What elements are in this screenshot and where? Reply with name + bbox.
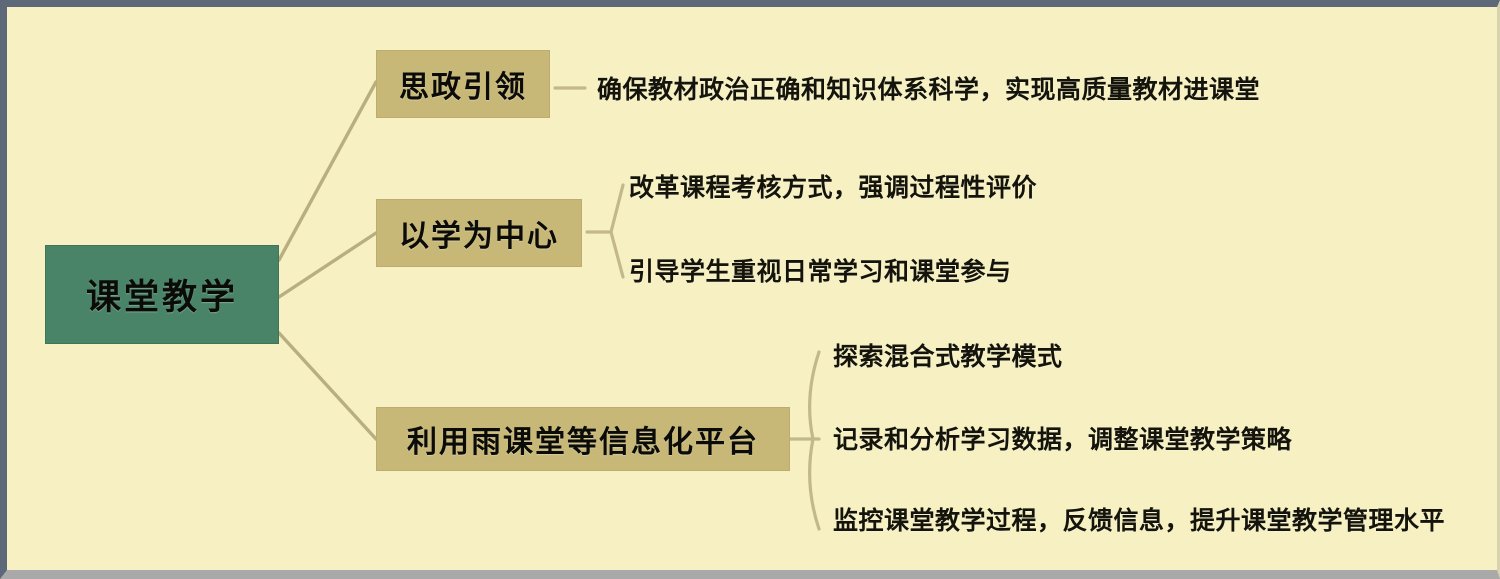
edge-branch-2-to-leaf-1 bbox=[611, 185, 623, 232]
leaf-item-branch3-2[interactable]: 记录和分析学习数据，调整课堂教学策略 bbox=[833, 427, 1292, 452]
branch-node-label: 以学为中心 bbox=[399, 211, 559, 255]
leaf-item-branch2-1[interactable]: 改革课程考核方式，强调过程性评价 bbox=[629, 175, 1037, 200]
edge-root-to-branch-3 bbox=[279, 333, 376, 439]
branch-node-rain-classroom-platform[interactable]: 利用雨课堂等信息化平台 bbox=[376, 407, 790, 471]
leaf-item-branch2-2[interactable]: 引导学生重视日常学习和课堂参与 bbox=[629, 259, 1012, 284]
edge-branch-3-brace bbox=[810, 352, 819, 529]
root-node-classroom-teaching[interactable]: 课堂教学 bbox=[45, 245, 279, 344]
mindmap-canvas: 课堂教学 思政引领 确保教材政治正确和知识体系科学，实现高质量教材进课堂 以学为… bbox=[0, 0, 1500, 579]
branch-node-ideological-leadership[interactable]: 思政引领 bbox=[376, 50, 550, 118]
leaf-item-branch3-1[interactable]: 探索混合式教学模式 bbox=[833, 344, 1063, 369]
edge-root-to-branch-2 bbox=[279, 233, 376, 297]
branch-node-label: 利用雨课堂等信息化平台 bbox=[407, 417, 759, 461]
branch-node-learning-centered[interactable]: 以学为中心 bbox=[376, 199, 582, 267]
root-node-label: 课堂教学 bbox=[86, 269, 238, 320]
edge-branch-2-to-leaf-2 bbox=[611, 232, 623, 277]
edge-root-to-branch-1 bbox=[279, 82, 376, 260]
leaf-item-branch3-3[interactable]: 监控课堂教学过程，反馈信息，提升课堂教学管理水平 bbox=[833, 508, 1445, 533]
branch-node-label: 思政引领 bbox=[399, 62, 527, 106]
leaf-item-branch1-1[interactable]: 确保教材政治正确和知识体系科学，实现高质量教材进课堂 bbox=[597, 77, 1260, 102]
